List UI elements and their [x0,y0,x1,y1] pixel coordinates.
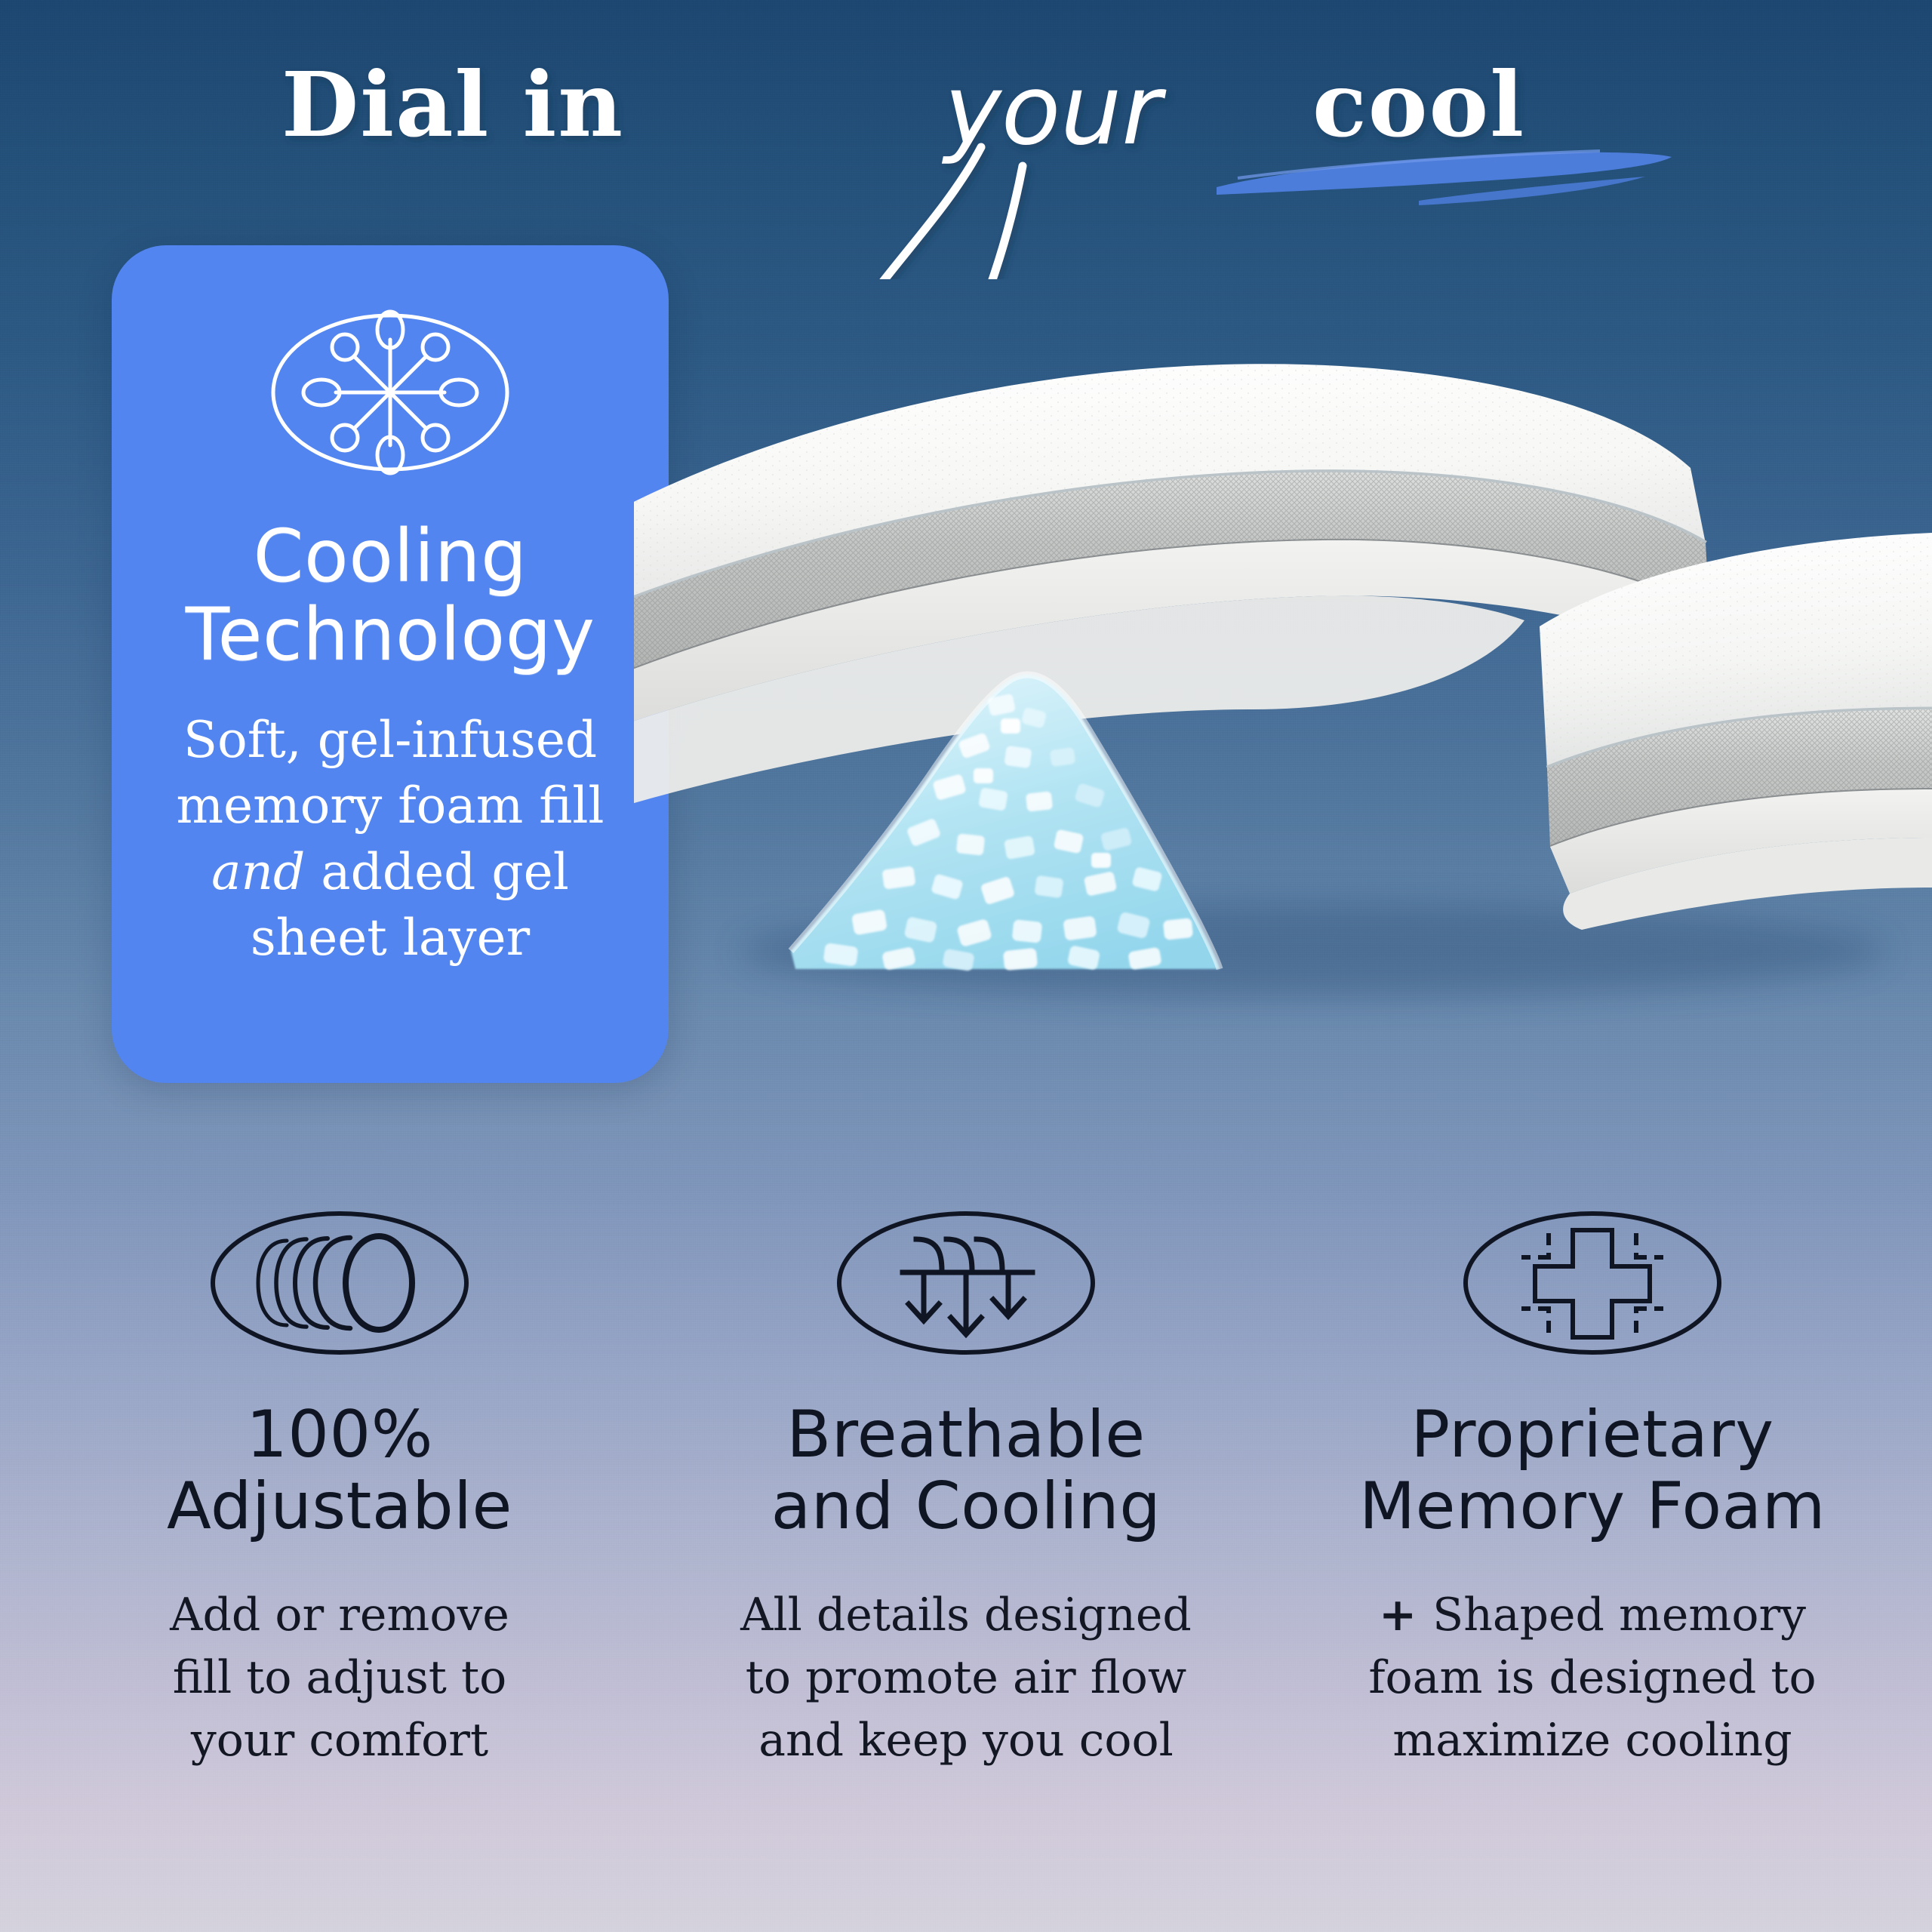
card-body-line2: memory foam fill [176,773,604,838]
plus-prefix: + [1379,1589,1432,1641]
feature-body-line2: fill to adjust to [170,1647,509,1709]
card-body-line4: sheet layer [176,905,604,971]
card-body-line3: and added gel [176,839,604,905]
card-body-line3-rest: added gel [305,843,569,901]
feature-memory-foam[interactable]: Proprietary Memory Foam + Shaped memory … [1306,1207,1879,1772]
feature-body-line1: Add or remove [170,1584,509,1647]
feature-body-line1: + Shaped memory [1368,1584,1816,1647]
feature-breathable[interactable]: Breathable and Cooling All details desig… [679,1207,1253,1772]
feature-title-line2: Memory Foam [1359,1471,1826,1543]
card-title-line2: Technology [186,596,595,675]
feature-title: 100% Adjustable [167,1399,512,1542]
feature-title-line2: and Cooling [771,1471,1161,1543]
feature-body-line1-text: Shaped memory [1432,1589,1806,1641]
feature-title-line1: Proprietary [1359,1399,1826,1471]
card-body-italic-and: and [211,843,305,901]
feature-title-line1: 100% [167,1399,512,1471]
feature-columns: 100% Adjustable Add or remove fill to ad… [53,1207,1879,1887]
feature-title: Proprietary Memory Foam [1359,1399,1826,1542]
card-title: Cooling Technology [186,518,595,674]
feature-body: + Shaped memory foam is designed to maxi… [1368,1584,1816,1771]
cooling-technology-card[interactable]: Cooling Technology Soft, gel-infused mem… [112,245,669,1083]
feature-body: Add or remove fill to adjust to your com… [170,1584,509,1771]
card-title-line1: Cooling [186,518,595,596]
feature-body-line3: and keep you cool [740,1709,1192,1772]
feature-title-line1: Breathable [771,1399,1161,1471]
product-photo [634,355,1932,1034]
feature-body-line3: maximize cooling [1368,1709,1816,1772]
feature-title: Breathable and Cooling [771,1399,1161,1542]
plus-cross-bracket-icon [1457,1207,1728,1358]
feature-body-line3: your comfort [170,1709,509,1772]
feature-body-line2: foam is designed to [1368,1647,1816,1709]
layered-ovals-icon [204,1207,475,1358]
card-body-line1: Soft, gel-infused [176,707,604,773]
card-body: Soft, gel-infused memory foam fill and a… [176,707,604,970]
feature-body-line1: All details designed [740,1584,1192,1647]
snowflake-icon [266,306,515,483]
downward-airflow-arrows-icon [830,1207,1102,1358]
feature-adjustable[interactable]: 100% Adjustable Add or remove fill to ad… [53,1207,626,1772]
feature-title-line2: Adjustable [167,1471,512,1543]
feature-body: All details designed to promote air flow… [740,1584,1192,1771]
feature-body-line2: to promote air flow [740,1647,1192,1709]
